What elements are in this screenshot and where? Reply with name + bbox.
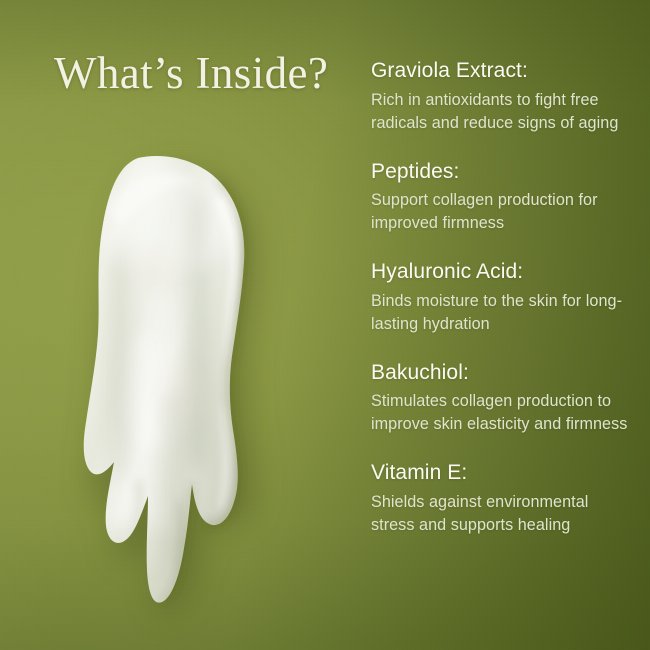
cream-swatch-image xyxy=(48,150,318,620)
ingredient-item-vitamin-e: Vitamin E: Shields against environmental… xyxy=(371,460,633,537)
ingredient-item-peptides: Peptides: Support collagen production fo… xyxy=(371,159,633,236)
page-title: What’s Inside? xyxy=(54,50,328,97)
ingredient-name: Peptides: xyxy=(371,159,633,185)
ingredient-item-bakuchiol: Bakuchiol: Stimulates collagen productio… xyxy=(371,360,633,437)
ingredient-name: Graviola Extract: xyxy=(371,58,633,84)
ingredient-item-graviola-extract: Graviola Extract: Rich in antioxidants t… xyxy=(371,58,633,135)
ingredient-name: Bakuchiol: xyxy=(371,360,633,386)
ingredient-description: Shields against environmental stress and… xyxy=(371,491,633,537)
ingredient-name: Hyaluronic Acid: xyxy=(371,259,633,285)
ingredient-description: Binds moisture to the skin for long-last… xyxy=(371,290,633,336)
ingredients-poster: What’s Inside? xyxy=(0,0,650,650)
ingredient-item-hyaluronic-acid: Hyaluronic Acid: Binds moisture to the s… xyxy=(371,259,633,336)
ingredient-description: Stimulates collagen production to improv… xyxy=(371,390,633,436)
ingredient-description: Support collagen production for improved… xyxy=(371,189,633,235)
ingredient-list: Graviola Extract: Rich in antioxidants t… xyxy=(371,58,633,537)
ingredient-description: Rich in antioxidants to fight free radic… xyxy=(371,89,633,135)
ingredient-name: Vitamin E: xyxy=(371,460,633,486)
